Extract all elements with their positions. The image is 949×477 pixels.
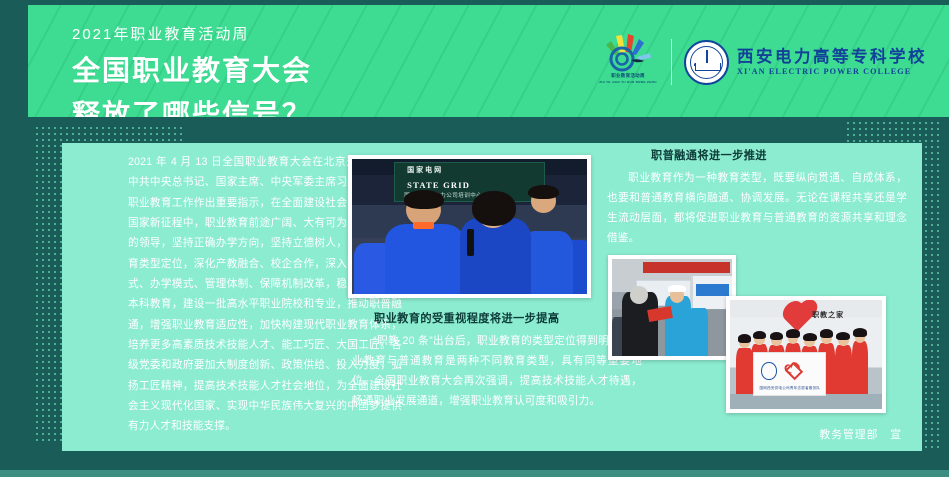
vocational-education-week-logo-icon: 职业教育活动周 ZHI YE JIAO YU HUO DONG ZHOU (597, 31, 659, 93)
photo-outdoor-volunteer-service (608, 255, 736, 360)
photo-2-elder-head (630, 286, 648, 303)
headline-line-1: 全国职业教育大会 (72, 53, 312, 89)
logo-zone: 职业教育活动周 ZHI YE JIAO YU HUO DONG ZHOU 西安电… (597, 31, 927, 93)
school-name-cn: 西安电力高等专科学校 (737, 48, 927, 65)
photo-3-hair-5 (803, 333, 817, 342)
photo-3-banner-seal-icon (761, 362, 777, 379)
photo-3-hair-7 (836, 332, 850, 341)
photo-1-person-a (385, 224, 465, 294)
week-logo-svg (600, 31, 656, 73)
photo-1-sign-en: STATE GRID (407, 180, 470, 190)
photo-3-wall-text: 职教之家 (812, 310, 844, 320)
photo-3-hair-2 (753, 331, 767, 340)
photo-3-hair-6 (820, 329, 834, 338)
photo-1-hair-c (528, 185, 559, 200)
photo-3-content: 职教之家 (730, 300, 882, 409)
photo-2-volunteer-2 (689, 308, 708, 357)
school-seal-icon (684, 40, 729, 85)
photo-3-hair-1 (738, 334, 752, 343)
article-block-zhipu: 职普融通将进一步推进 职业教育作为一种教育类型，既要纵向贯通、自成体系，也要和普… (607, 148, 907, 248)
photo-2-volunteer-1 (665, 296, 691, 356)
photo-1-content: 国家电网 STATE GRID 国网陕西省电力公司培训中心 (352, 159, 587, 294)
photo-3-banner-heart-icon (785, 362, 804, 381)
photo-3-banner-text: 国网西安供电公司青年志愿者服务队 (759, 386, 820, 391)
header-title-group: 2021年职业教育活动周 全国职业教育大会 释放了哪些信号？ (72, 27, 312, 117)
article-body-zhongshi: “职教 20 条”出台后，职业教育的类型定位得到明确：职业教育与普通教育是两种不… (352, 331, 642, 412)
photo-3-white-banner: 国网西安供电公司青年志愿者服务队 (753, 352, 826, 396)
photo-1-hair-a (404, 190, 444, 209)
week-logo-caption-en: ZHI YE JIAO YU HUO DONG ZHOU (599, 80, 656, 85)
school-logo-group: 西安电力高等专科学校 XI'AN ELECTRIC POWER COLLEGE (684, 40, 927, 85)
photo-3-hair-4 (786, 329, 800, 338)
logo-divider (671, 39, 672, 85)
week-logo-caption-cn: 职业教育活动周 (611, 73, 645, 80)
school-seal-emblem (694, 52, 720, 72)
article-heading-zhipu: 职普融通将进一步推进 (651, 148, 907, 165)
school-name-en: XI'AN ELECTRIC POWER COLLEGE (737, 67, 927, 76)
poster-root: 2021年职业教育活动周 全国职业教育大会 释放了哪些信号？ (0, 0, 949, 477)
photo-volunteer-group-banner: 职教之家 (726, 296, 886, 413)
headline-line-2: 释放了哪些信号？ (72, 97, 312, 117)
photo-2-content (612, 259, 732, 356)
photo-3-floor (730, 394, 882, 409)
article-body-zhipu: 职业教育作为一种教育类型，既要纵向贯通、自成体系，也要和普通教育横向融通、协调发… (607, 168, 907, 249)
signature-text: 教务管理部 宣 (742, 426, 902, 442)
photo-3-hair-3 (770, 332, 784, 341)
photo-3-hair-8 (853, 328, 867, 337)
photo-2-red-banner (643, 262, 729, 273)
article-block-zhongshi: 职业教育的受重视程度将进一步提高 “职教 20 条”出台后，职业教育的类型定位得… (352, 311, 642, 411)
header-kicker: 2021年职业教育活动周 (72, 27, 312, 44)
photo-2-volunteer-cap (668, 285, 686, 292)
photo-1-sign-cn: 国家电网 (407, 165, 443, 175)
photo-1-hair-b (472, 191, 517, 226)
photo-1-microphone (467, 229, 474, 256)
photo-1-collar (413, 222, 434, 229)
photo-state-grid-training: 国家电网 STATE GRID 国网陕西省电力公司培训中心 (348, 155, 591, 298)
poster-header: 2021年职业教育活动周 全国职业教育大会 释放了哪些信号？ (28, 5, 949, 117)
background-bottom-strip (0, 470, 949, 477)
week-logo-mark (600, 31, 656, 73)
article-heading-zhongshi: 职业教育的受重视程度将进一步提高 (374, 311, 642, 328)
school-name-group: 西安电力高等专科学校 XI'AN ELECTRIC POWER COLLEGE (737, 48, 927, 76)
